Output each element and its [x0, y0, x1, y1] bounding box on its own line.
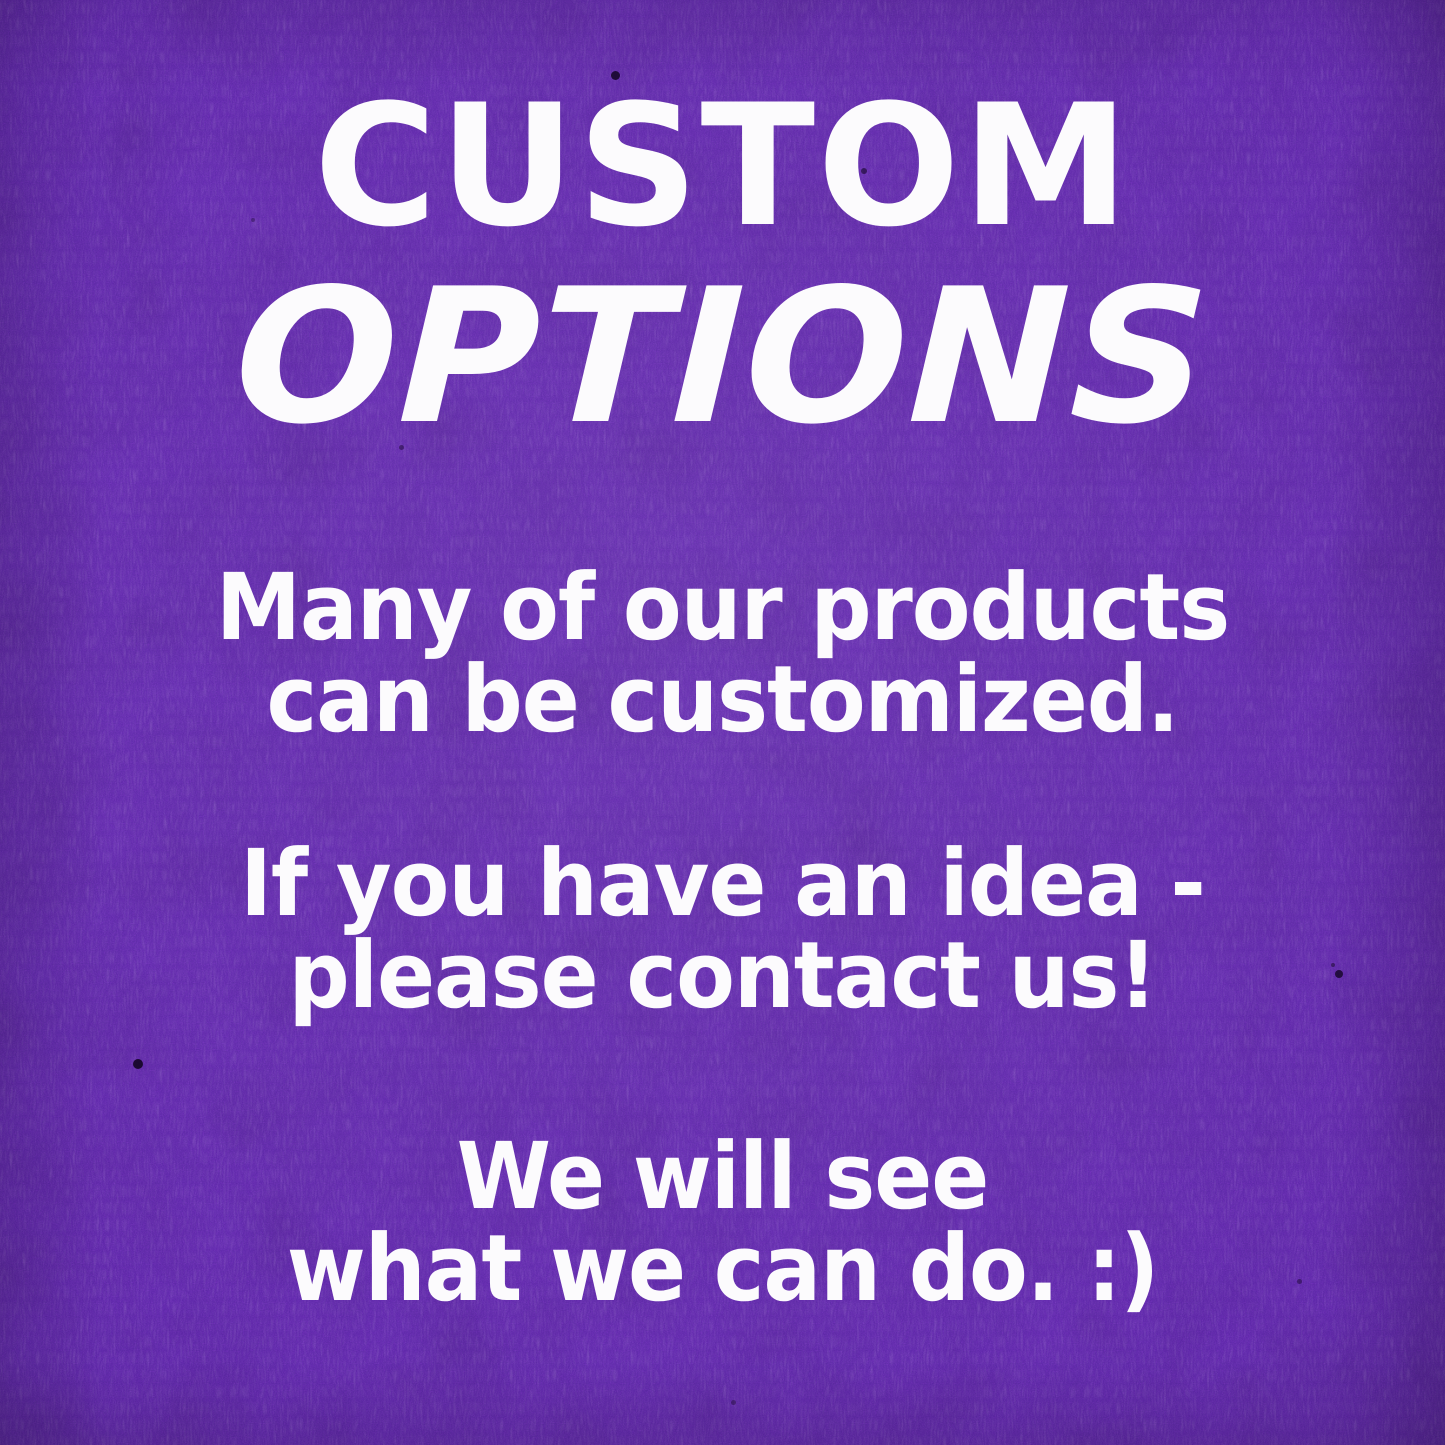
paragraph1-line2: can be customized. [51, 654, 1395, 746]
poster-content: CUSTOM OPTIONS Many of our products can … [0, 0, 1445, 1445]
paragraph2-line1: If you have an idea - [51, 838, 1395, 930]
headline-line-custom: CUSTOM [0, 82, 1445, 250]
paragraph2-line2: please contact us! [51, 930, 1395, 1022]
paragraph1-line1: Many of our products [51, 562, 1395, 654]
paragraph3-line1: We will see [51, 1131, 1395, 1223]
headline-line-options: OPTIONS [0, 264, 1445, 450]
paragraph3-line2: what we can do. :) [51, 1223, 1395, 1315]
custom-options-poster: CUSTOM OPTIONS Many of our products can … [0, 0, 1445, 1445]
